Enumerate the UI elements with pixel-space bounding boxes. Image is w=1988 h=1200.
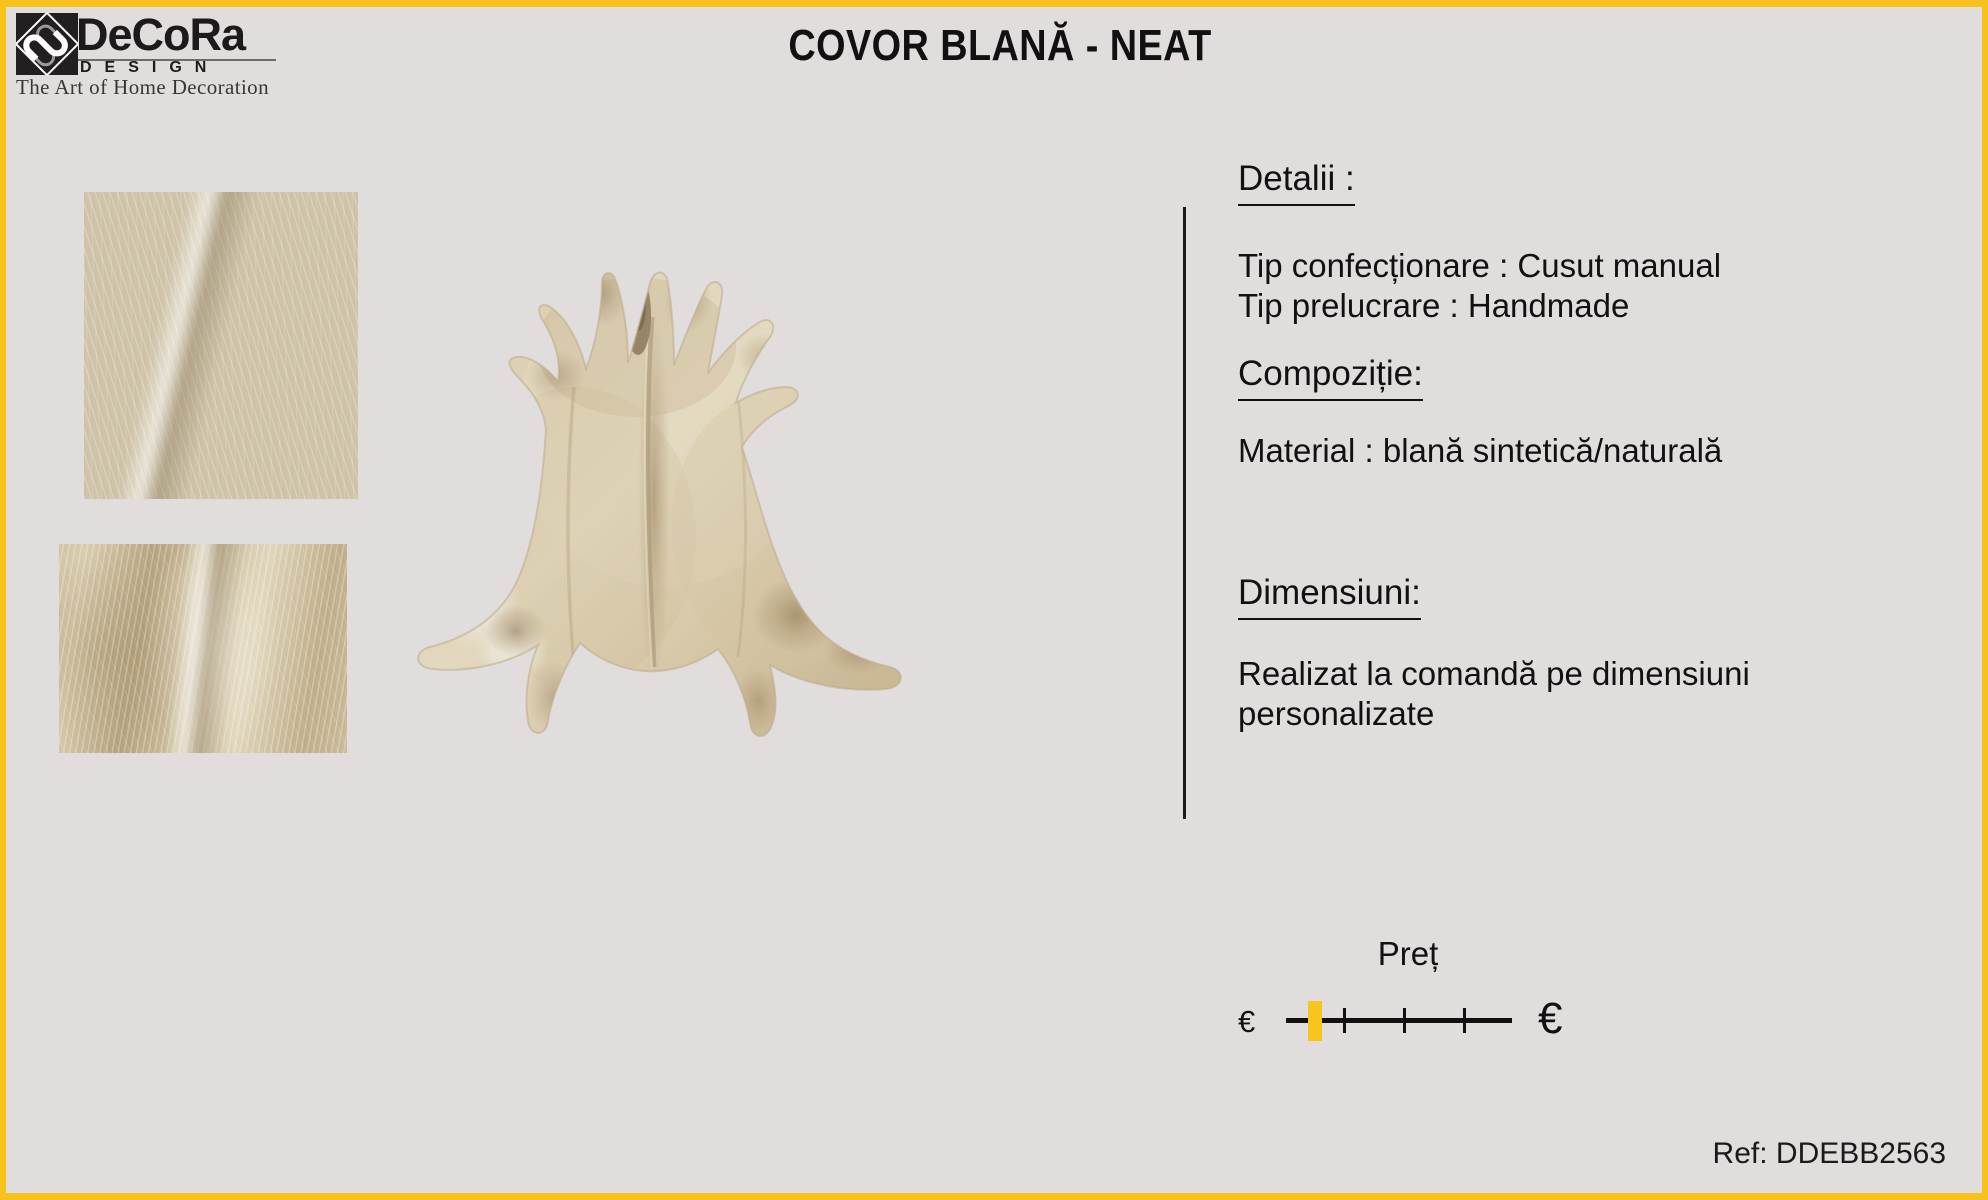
- price-tick-2: [1403, 1008, 1406, 1033]
- logo-tagline: The Art of Home Decoration: [16, 75, 269, 100]
- content-divider: [1183, 207, 1186, 819]
- page-title: COVOR BLANĂ - NEAT: [145, 21, 1855, 71]
- euro-max-icon: €: [1538, 997, 1562, 1041]
- composition-line-1: Material : blană sintetică/naturală: [1238, 431, 1938, 471]
- price-marker[interactable]: [1308, 1001, 1322, 1041]
- main-product-image[interactable]: [366, 197, 946, 767]
- reference-code: Ref: DDEBB2563: [1713, 1137, 1946, 1171]
- euro-min-icon: €: [1238, 1006, 1255, 1037]
- details-heading: Detalii :: [1238, 157, 1355, 206]
- decora-interlocking-loop-icon: [16, 13, 78, 75]
- price-tick-3: [1463, 1008, 1466, 1033]
- dimensions-line-1: Realizat la comandă pe dimensiuni person…: [1238, 654, 1878, 735]
- price-scale[interactable]: € €: [1238, 993, 1578, 1045]
- price-tick-1: [1343, 1008, 1346, 1033]
- detail-photo-1[interactable]: [84, 192, 358, 499]
- details-line-2: Tip prelucrare : Handmade: [1238, 286, 1938, 326]
- detail-photo-2[interactable]: [59, 544, 347, 753]
- price-label: Preț: [1238, 935, 1578, 973]
- product-sheet: DeCoRa DESIGN The Art of Home Decoration…: [0, 0, 1988, 1200]
- details-line-1: Tip confecționare : Cusut manual: [1238, 246, 1938, 286]
- product-info: Detalii : Tip confecționare : Cusut manu…: [1238, 157, 1938, 735]
- price-indicator: Preț € €: [1238, 935, 1578, 1045]
- composition-heading: Compoziție:: [1238, 352, 1423, 401]
- dimensions-heading: Dimensiuni:: [1238, 571, 1421, 620]
